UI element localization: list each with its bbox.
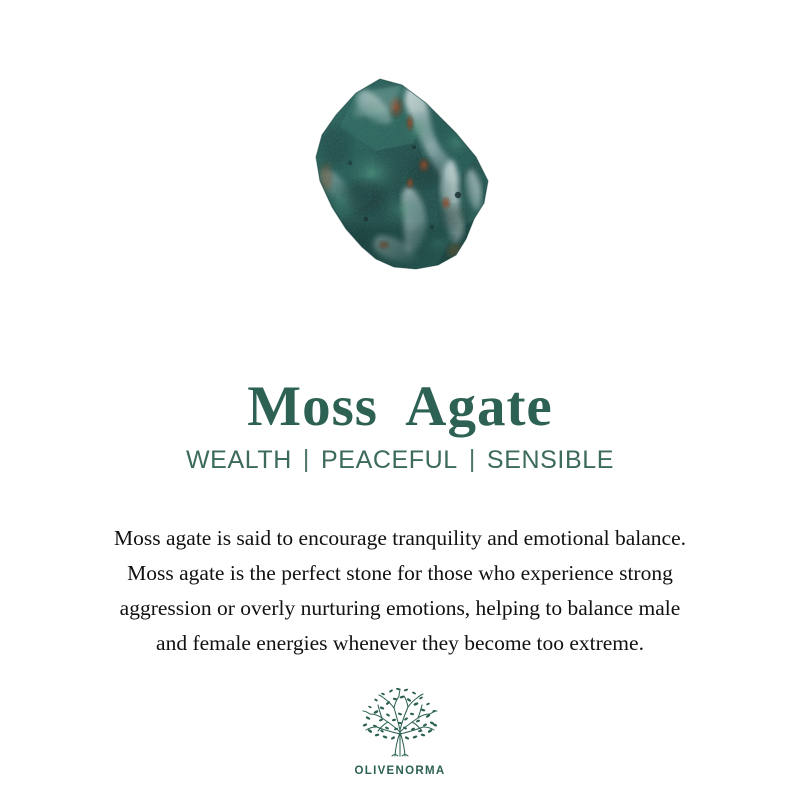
brand-name: OLIVENORMA (355, 765, 446, 777)
description-line: Moss agate is said to encourage tranquil… (30, 521, 770, 556)
keyword-peaceful: PEACEFUL (321, 446, 458, 474)
description-line: Moss agate is the perfect stone for thos… (30, 556, 770, 591)
description-line: and female energies whenever they become… (30, 626, 770, 661)
olive-tree-icon (354, 686, 446, 762)
product-image-container (0, 74, 800, 279)
keyword-list: WEALTH|PEACEFUL|SENSIBLE (0, 443, 800, 477)
keyword-sensible: SENSIBLE (487, 446, 614, 474)
keyword-separator: | (292, 442, 321, 476)
keyword-separator: | (458, 442, 487, 476)
brand-logo: OLIVENORMA (0, 686, 800, 777)
product-info-card: Moss Agate WEALTH|PEACEFUL|SENSIBLE Moss… (0, 0, 800, 800)
description-line: aggression or overly nurturing emotions,… (30, 591, 770, 626)
page-title: Moss Agate (0, 374, 800, 440)
gemstone-icon (306, 77, 494, 277)
keyword-wealth: WEALTH (186, 446, 292, 474)
description-text: Moss agate is said to encourage tranquil… (30, 521, 770, 661)
